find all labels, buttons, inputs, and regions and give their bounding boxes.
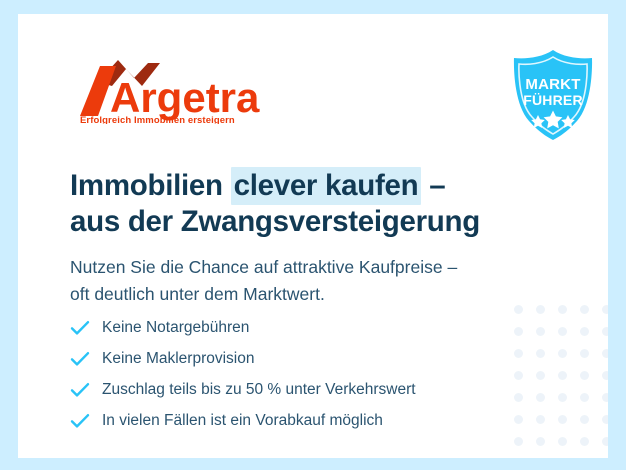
list-item-label: Keine Notargebühren xyxy=(102,319,249,337)
dot xyxy=(558,437,567,446)
check-icon xyxy=(70,318,102,338)
check-icon xyxy=(70,349,102,369)
dot xyxy=(536,371,545,380)
argetra-logo[interactable]: Argetra Erfolgreich Immobilien ersteiger… xyxy=(74,56,264,124)
page-frame: Argetra Erfolgreich Immobilien ersteiger… xyxy=(0,0,626,470)
benefits-list: Keine Notargebühren Keine Maklerprovisio… xyxy=(70,312,530,436)
check-icon xyxy=(70,411,102,431)
dot xyxy=(602,349,608,358)
dot xyxy=(580,393,589,402)
dot xyxy=(580,327,589,336)
dot xyxy=(514,437,523,446)
argetra-wordmark: Argetra xyxy=(110,74,260,121)
list-item: In vielen Fällen ist ein Vorabkauf mögli… xyxy=(70,405,530,436)
headline-text-before: Immobilien xyxy=(70,169,231,202)
promo-card: Argetra Erfolgreich Immobilien ersteiger… xyxy=(18,14,608,458)
dot xyxy=(602,437,608,446)
dot xyxy=(536,393,545,402)
dot xyxy=(602,415,608,424)
page-subtitle: Nutzen Sie die Chance auf attraktive Kau… xyxy=(70,254,550,308)
headline-line-1: Immobilien clever kaufen – xyxy=(70,168,540,204)
dot xyxy=(580,437,589,446)
dot xyxy=(558,415,567,424)
dot xyxy=(536,327,545,336)
dot xyxy=(580,349,589,358)
dot xyxy=(580,415,589,424)
shield-badge-icon: MARKT FÜHRER xyxy=(507,47,599,143)
dot xyxy=(558,305,567,314)
headline-highlight: clever kaufen xyxy=(231,167,422,205)
headline-text-after: – xyxy=(421,169,445,202)
dot xyxy=(602,305,608,314)
badge-line-2: FÜHRER xyxy=(523,92,583,108)
subtitle-line-2: oft deutlich unter dem Marktwert. xyxy=(70,281,550,308)
check-icon xyxy=(70,380,102,400)
dot xyxy=(580,305,589,314)
dot xyxy=(602,371,608,380)
argetra-tagline: Erfolgreich Immobilien ersteigern xyxy=(80,115,235,124)
list-item-label: Keine Maklerprovision xyxy=(102,350,255,368)
list-item: Keine Maklerprovision xyxy=(70,343,530,374)
dot xyxy=(602,393,608,402)
dot xyxy=(558,393,567,402)
dot xyxy=(602,327,608,336)
subtitle-line-1: Nutzen Sie die Chance auf attraktive Kau… xyxy=(70,254,550,281)
list-item-label: In vielen Fällen ist ein Vorabkauf mögli… xyxy=(102,412,383,430)
dot xyxy=(558,371,567,380)
dot xyxy=(558,327,567,336)
argetra-logo-svg: Argetra Erfolgreich Immobilien ersteiger… xyxy=(74,56,264,124)
list-item: Zuschlag teils bis zu 50 % unter Verkehr… xyxy=(70,374,530,405)
market-leader-badge: MARKT FÜHRER xyxy=(507,47,599,143)
page-title: Immobilien clever kaufen – aus der Zwang… xyxy=(70,168,540,240)
dot xyxy=(558,349,567,358)
badge-line-1: MARKT xyxy=(525,76,580,93)
dot xyxy=(536,415,545,424)
dot xyxy=(536,349,545,358)
dot xyxy=(580,371,589,380)
list-item-label: Zuschlag teils bis zu 50 % unter Verkehr… xyxy=(102,381,416,399)
list-item: Keine Notargebühren xyxy=(70,312,530,343)
headline-line-2: aus der Zwangsversteigerung xyxy=(70,204,540,240)
dot xyxy=(536,437,545,446)
